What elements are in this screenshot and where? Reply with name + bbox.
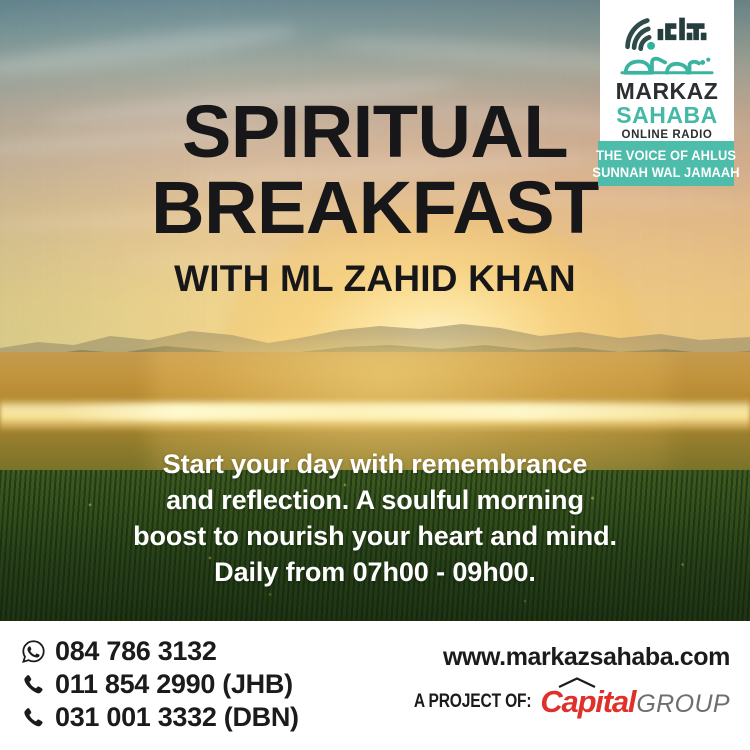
phone-icon — [18, 671, 48, 699]
body-copy-line: boost to nourish your heart and mind. — [0, 519, 750, 555]
roof-chevron-icon — [557, 677, 597, 688]
broadcast-wave-icon — [619, 12, 715, 53]
phone-number-jhb: 011 854 2990 (JHB) — [55, 669, 293, 700]
body-copy-line: Daily from 07h00 - 09h00. — [0, 555, 750, 591]
phone-number-dbn: 031 001 3332 (DBN) — [55, 702, 299, 733]
phone-icon — [18, 704, 48, 732]
logo-sahaba-word: SAHABA — [616, 103, 717, 127]
logo-markaz-word: MARKAZ — [616, 80, 719, 103]
project-of-label: A PROJECT OF: — [414, 691, 532, 713]
tagline-banner: THE VOICE OF AHLUS SUNNAH WAL JAMAAH — [598, 141, 734, 186]
web-and-sponsor-block: www.markazsahaba.com A PROJECT OF: Capit… — [388, 643, 730, 717]
arabic-calligraphy-sahaba — [615, 54, 719, 77]
contact-list: 084 786 3132 011 854 2990 (JHB) 031 001 … — [18, 635, 299, 734]
sponsor-row: A PROJECT OF: Capital GROUP — [388, 686, 730, 717]
tagline-line-2: SUNNAH WAL JAMAAH — [592, 164, 739, 180]
whatsapp-number: 084 786 3132 — [55, 636, 217, 667]
group-word: GROUP — [636, 692, 730, 717]
body-copy-line: Start your day with remembrance — [0, 447, 750, 483]
contact-row-phone-dbn[interactable]: 031 001 3332 (DBN) — [18, 701, 299, 734]
presenter-line: WITH ML ZAHID KHAN — [0, 258, 750, 300]
body-copy-line: and reflection. A soulful morning — [0, 483, 750, 519]
water-highlight — [60, 404, 700, 420]
body-copy-block: Start your day with remembrance and refl… — [0, 447, 750, 591]
contact-row-phone-jhb[interactable]: 011 854 2990 (JHB) — [18, 668, 299, 701]
logo-online-radio-word: ONLINE RADIO — [622, 129, 713, 141]
whatsapp-icon — [18, 638, 48, 666]
contact-row-whatsapp[interactable]: 084 786 3132 — [18, 635, 299, 668]
markaz-sahaba-logo-card: MARKAZ SAHABA ONLINE RADIO — [600, 0, 734, 141]
website-url[interactable]: www.markazsahaba.com — [388, 643, 730, 672]
footer-bar: 084 786 3132 011 854 2990 (JHB) 031 001 … — [0, 621, 750, 750]
capital-group-logo: Capital GROUP — [540, 686, 730, 717]
poster-canvas: SPIRITUAL BREAKFAST WITH ML ZAHID KHAN S… — [0, 0, 750, 750]
tagline-line-1: THE VOICE OF AHLUS — [596, 147, 736, 163]
capital-word: Capital — [540, 686, 635, 717]
